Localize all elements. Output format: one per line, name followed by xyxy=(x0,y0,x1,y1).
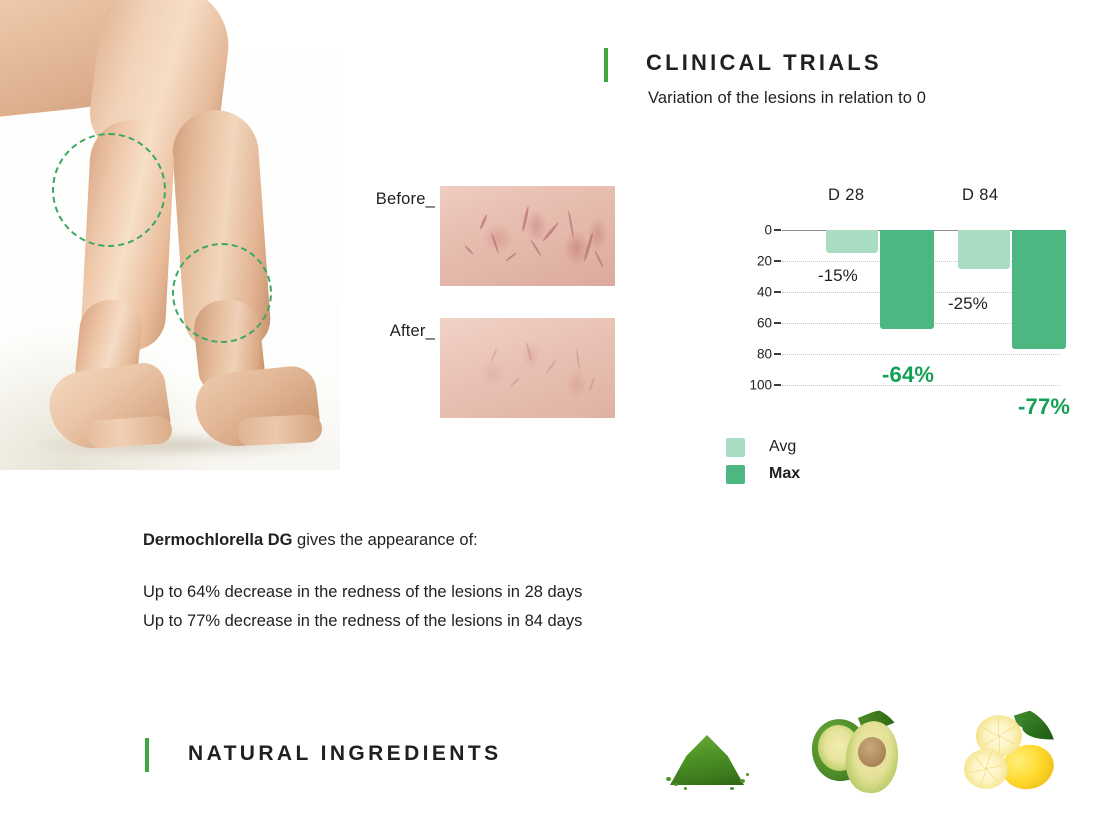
ytick-dash-80 xyxy=(774,353,781,355)
ytick-label-20: 20 xyxy=(757,254,772,269)
natural-ingredients-accent-bar xyxy=(145,738,149,772)
toes-front xyxy=(87,415,173,449)
before-skin-image xyxy=(440,186,615,286)
legend-item-max: Max xyxy=(726,462,800,486)
ytick-label-0: 0 xyxy=(764,223,772,238)
chart-plot-area: 0 20 40 60 80 100 -15% -25% -64% -77% xyxy=(782,230,1060,385)
bar-d28-avg xyxy=(826,230,878,253)
leg-photograph xyxy=(0,0,340,470)
value-label-d84-avg: -25% xyxy=(948,294,988,314)
ingredient-lemon-icon xyxy=(958,705,1056,803)
ytick-label-80: 80 xyxy=(757,347,772,362)
lemon-half-lower xyxy=(964,749,1008,789)
product-name: Dermochlorella DG xyxy=(143,531,292,549)
natural-ingredients-title: NATURAL INGREDIENTS xyxy=(188,742,502,766)
legend-item-avg: Avg xyxy=(726,435,800,459)
highlight-circle-calf xyxy=(52,133,166,247)
ytick-dash-60 xyxy=(774,322,781,324)
group-label-d28: D 28 xyxy=(828,186,864,205)
ytick-dash-100 xyxy=(774,384,781,386)
toes-back xyxy=(237,414,322,446)
highlight-circle-ankle xyxy=(172,243,272,343)
before-row: Before_ xyxy=(355,186,620,286)
benefits-lead-line: Dermochlorella DG gives the appearance o… xyxy=(143,531,683,550)
value-label-d28-avg: -15% xyxy=(818,266,858,286)
after-skin-image xyxy=(440,318,615,418)
benefit-line-1: Up to 64% decrease in the redness of the… xyxy=(143,578,683,607)
before-after-block: Before_ After_ xyxy=(355,186,620,436)
ytick-dash-40 xyxy=(774,291,781,293)
bar-d84-max xyxy=(1012,230,1066,349)
ytick-label-40: 40 xyxy=(757,285,772,300)
group-label-d84: D 84 xyxy=(962,186,998,205)
after-label: After_ xyxy=(390,322,435,341)
benefits-lead-rest: gives the appearance of: xyxy=(292,531,477,549)
legend-label-avg: Avg xyxy=(769,438,796,456)
clinical-results-bar-chart: D 28 D 84 0 20 40 60 80 100 -15% -25% -6… xyxy=(720,186,1060,401)
benefits-copy-block: Dermochlorella DG gives the appearance o… xyxy=(143,531,683,636)
before-label: Before_ xyxy=(376,190,435,209)
value-label-d28-max: -64% xyxy=(882,362,934,388)
bar-d28-max xyxy=(880,230,934,329)
clinical-trials-accent-bar xyxy=(604,48,608,82)
ytick-dash-0 xyxy=(774,229,781,231)
clinical-trials-title: CLINICAL TRIALS xyxy=(646,50,882,76)
ytick-label-60: 60 xyxy=(757,316,772,331)
chart-legend: Avg Max xyxy=(726,435,800,489)
gridline-80 xyxy=(782,354,1060,355)
ytick-label-100: 100 xyxy=(749,378,772,393)
value-label-d84-max: -77% xyxy=(1018,394,1070,420)
legend-label-max: Max xyxy=(769,465,800,483)
ingredient-green-algae-powder-icon xyxy=(658,705,756,803)
ingredient-avocado-icon xyxy=(808,705,906,803)
legend-swatch-max xyxy=(726,465,745,484)
ytick-dash-20 xyxy=(774,260,781,262)
after-row: After_ xyxy=(355,318,620,418)
clinical-trials-subtitle: Variation of the lesions in relation to … xyxy=(648,89,926,108)
legend-swatch-avg xyxy=(726,438,745,457)
bar-d84-avg xyxy=(958,230,1010,269)
benefit-line-2: Up to 77% decrease in the redness of the… xyxy=(143,607,683,636)
